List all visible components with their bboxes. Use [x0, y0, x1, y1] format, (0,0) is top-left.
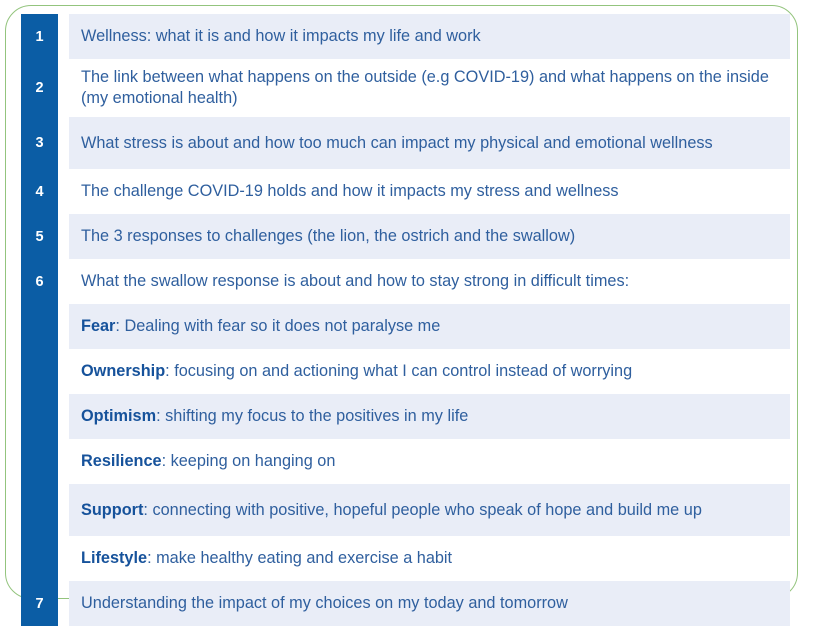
agenda-number-spacer — [21, 394, 58, 439]
agenda-item-text: : connecting with positive, hopeful peop… — [143, 501, 701, 519]
subitem-lead-label: Support — [81, 501, 143, 519]
column-gap — [58, 169, 69, 214]
agenda-subrow-text-5: Support: connecting with positive, hopef… — [69, 484, 790, 536]
agenda-row-7: 7Understanding the impact of my choices … — [21, 581, 790, 626]
agenda-subrow-1: Fear: Dealing with fear so it does not p… — [21, 304, 790, 349]
agenda-row-text-4: The challenge COVID-19 holds and how it … — [69, 169, 790, 214]
column-gap — [58, 349, 69, 394]
agenda-row-text-7: Understanding the impact of my choices o… — [69, 581, 790, 626]
agenda-row-text-3: What stress is about and how too much ca… — [69, 117, 790, 169]
agenda-subrow-text-4: Resilience: keeping on hanging on — [69, 439, 790, 484]
agenda-row-4: 4The challenge COVID-19 holds and how it… — [21, 169, 790, 214]
agenda-subrow-4: Resilience: keeping on hanging on — [21, 439, 790, 484]
column-gap — [58, 394, 69, 439]
subitem-lead-label: Resilience — [81, 452, 162, 470]
agenda-item-text: What stress is about and how too much ca… — [81, 134, 713, 152]
agenda-list: 1Wellness: what it is and how it impacts… — [21, 14, 790, 626]
agenda-number-badge: 1 — [21, 14, 58, 59]
agenda-item-text: Wellness: what it is and how it impacts … — [81, 27, 481, 45]
agenda-group-6: 6What the swallow response is about and … — [21, 259, 790, 581]
subitem-lead-label: Optimism — [81, 407, 156, 425]
column-gap — [58, 304, 69, 349]
column-gap — [58, 439, 69, 484]
slide-canvas: 1Wellness: what it is and how it impacts… — [0, 0, 818, 618]
agenda-item-text: : shifting my focus to the positives in … — [156, 407, 468, 425]
column-gap — [58, 259, 69, 304]
agenda-subrow-6: Lifestyle: make healthy eating and exerc… — [21, 536, 790, 581]
agenda-subrow-text-3: Optimism: shifting my focus to the posit… — [69, 394, 790, 439]
agenda-subrow-text-2: Ownership: focusing on and actioning wha… — [69, 349, 790, 394]
agenda-row-text-6: What the swallow response is about and h… — [69, 259, 790, 304]
agenda-item-text: The link between what happens on the out… — [81, 68, 769, 107]
agenda-subrow-5: Support: connecting with positive, hopef… — [21, 484, 790, 536]
column-gap — [58, 214, 69, 259]
agenda-number-spacer — [21, 439, 58, 484]
agenda-number-badge: 7 — [21, 581, 58, 626]
column-gap — [58, 59, 69, 117]
column-gap — [58, 117, 69, 169]
agenda-number-spacer — [21, 349, 58, 394]
column-gap — [58, 14, 69, 59]
agenda-number-badge: 2 — [21, 59, 58, 117]
agenda-row-text-2: The link between what happens on the out… — [69, 59, 790, 117]
agenda-row-6: 6What the swallow response is about and … — [21, 259, 790, 304]
agenda-item-text: : keeping on hanging on — [162, 452, 336, 470]
agenda-number-spacer — [21, 536, 58, 581]
subitem-lead-label: Ownership — [81, 362, 165, 380]
agenda-item-text: : Dealing with fear so it does not paral… — [115, 317, 440, 335]
agenda-number-badge: 3 — [21, 117, 58, 169]
agenda-row-text-5: The 3 responses to challenges (the lion,… — [69, 214, 790, 259]
agenda-subrow-3: Optimism: shifting my focus to the posit… — [21, 394, 790, 439]
agenda-subrow-text-1: Fear: Dealing with fear so it does not p… — [69, 304, 790, 349]
agenda-row-2: 2The link between what happens on the ou… — [21, 59, 790, 117]
agenda-row-3: 3What stress is about and how too much c… — [21, 117, 790, 169]
agenda-item-text: The challenge COVID-19 holds and how it … — [81, 182, 619, 200]
agenda-item-text: : make healthy eating and exercise a hab… — [147, 549, 452, 567]
agenda-number-badge: 6 — [21, 259, 58, 304]
agenda-row-5: 5The 3 responses to challenges (the lion… — [21, 214, 790, 259]
agenda-item-text: What the swallow response is about and h… — [81, 272, 629, 290]
column-gap — [58, 581, 69, 626]
column-gap — [58, 536, 69, 581]
agenda-subrow-2: Ownership: focusing on and actioning wha… — [21, 349, 790, 394]
agenda-item-text: The 3 responses to challenges (the lion,… — [81, 227, 575, 245]
agenda-number-spacer — [21, 304, 58, 349]
column-gap — [58, 484, 69, 536]
agenda-subrow-text-6: Lifestyle: make healthy eating and exerc… — [69, 536, 790, 581]
agenda-number-badge: 4 — [21, 169, 58, 214]
agenda-row-1: 1Wellness: what it is and how it impacts… — [21, 14, 790, 59]
agenda-item-text: : focusing on and actioning what I can c… — [165, 362, 632, 380]
agenda-row-text-1: Wellness: what it is and how it impacts … — [69, 14, 790, 59]
subitem-lead-label: Fear — [81, 317, 115, 335]
agenda-number-badge: 5 — [21, 214, 58, 259]
subitem-lead-label: Lifestyle — [81, 549, 147, 567]
agenda-number-spacer — [21, 484, 58, 536]
agenda-item-text: Understanding the impact of my choices o… — [81, 594, 568, 612]
